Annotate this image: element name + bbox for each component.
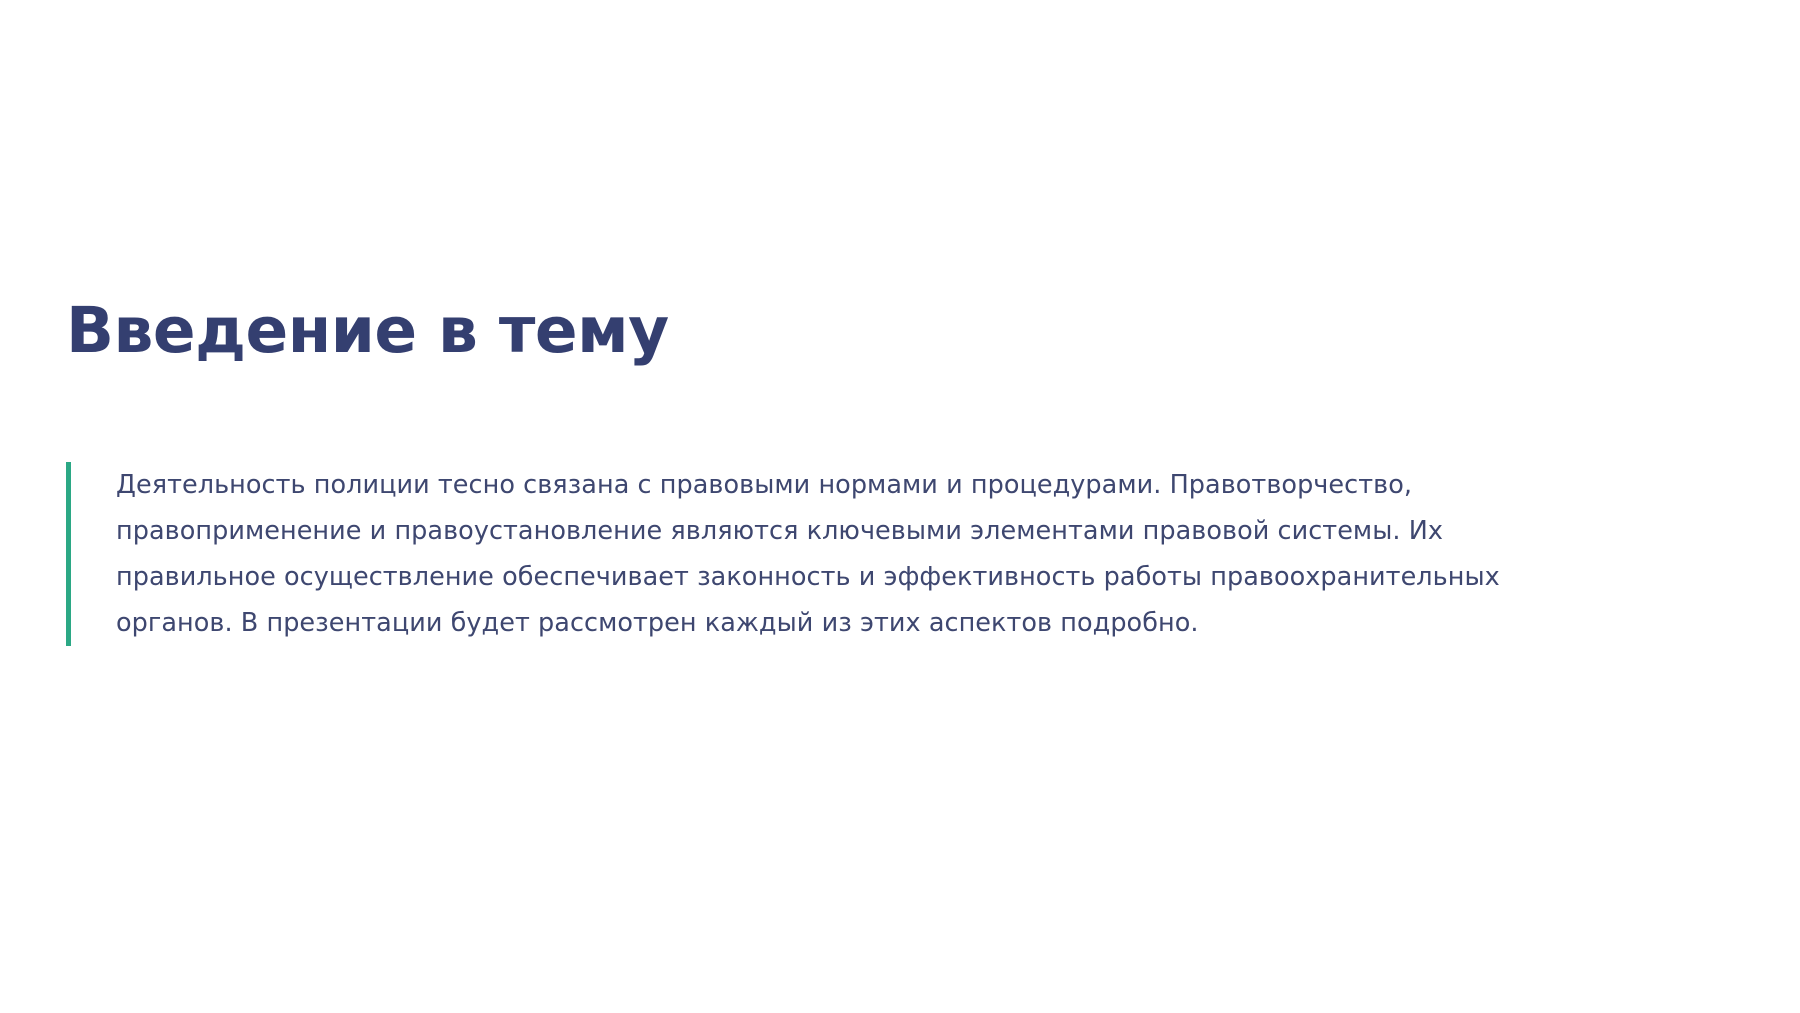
body-paragraph: Деятельность полиции тесно связана с пра… bbox=[71, 462, 1526, 646]
presentation-slide: Введение в тему Деятельность полиции тес… bbox=[0, 0, 1800, 1013]
body-callout: Деятельность полиции тесно связана с пра… bbox=[66, 462, 1526, 646]
page-title: Введение в тему bbox=[66, 296, 669, 367]
